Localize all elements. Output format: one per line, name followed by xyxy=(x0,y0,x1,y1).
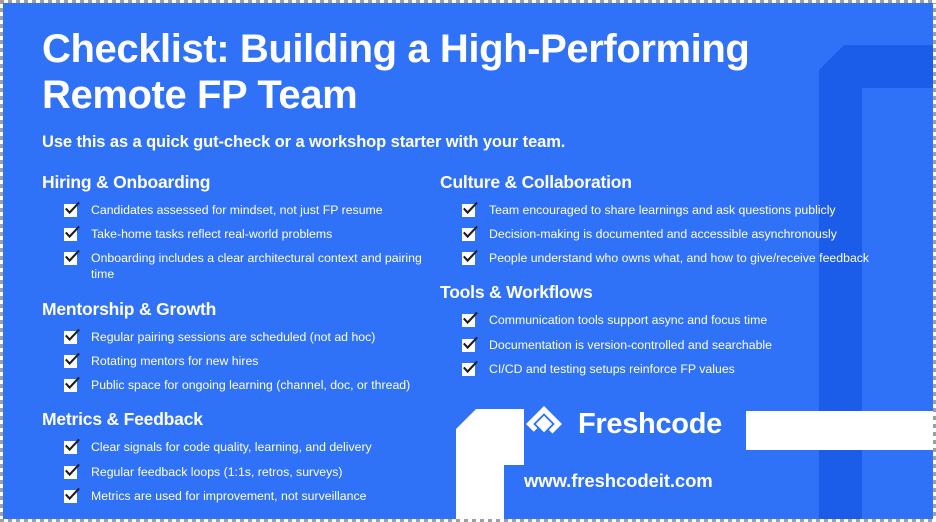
checkbox-checked-icon[interactable] xyxy=(64,228,77,241)
check-item[interactable]: Clear signals for code quality, learning… xyxy=(42,439,440,455)
checklist-section: Hiring & OnboardingCandidates assessed f… xyxy=(42,172,440,283)
check-list: Clear signals for code quality, learning… xyxy=(42,439,440,504)
checkbox-checked-icon[interactable] xyxy=(64,490,77,503)
checkbox-checked-icon[interactable] xyxy=(462,314,475,327)
check-item-label: Onboarding includes a clear architectura… xyxy=(91,250,440,282)
check-item[interactable]: Team encouraged to share learnings and a… xyxy=(440,202,936,218)
check-item[interactable]: Rotating mentors for new hires xyxy=(42,353,440,369)
page-title: Checklist: Building a High-Performing Re… xyxy=(42,26,832,119)
checklist-section: Mentorship & GrowthRegular pairing sessi… xyxy=(42,299,440,394)
brand-url: www.freshcodeit.com xyxy=(524,470,722,492)
check-item-label: Candidates assessed for mindset, not jus… xyxy=(91,202,383,218)
check-item-label: Regular pairing sessions are scheduled (… xyxy=(91,329,375,345)
freshcode-diamond-logo-icon xyxy=(524,404,564,444)
section-title: Culture & Collaboration xyxy=(440,172,936,193)
check-item-label: People understand who owns what, and how… xyxy=(489,250,869,266)
check-list: Team encouraged to share learnings and a… xyxy=(440,202,936,267)
check-list: Candidates assessed for mindset, not jus… xyxy=(42,202,440,283)
check-item-label: Regular feedback loops (1:1s, retros, su… xyxy=(91,464,343,480)
poster-content: Checklist: Building a High-Performing Re… xyxy=(0,0,936,520)
section-title: Mentorship & Growth xyxy=(42,299,440,320)
checklist-poster: Checklist: Building a High-Performing Re… xyxy=(0,0,936,522)
check-item[interactable]: Regular pairing sessions are scheduled (… xyxy=(42,329,440,345)
checkbox-checked-icon[interactable] xyxy=(64,204,77,217)
check-item[interactable]: Documentation is version-controlled and … xyxy=(440,337,936,353)
check-item[interactable]: Metrics are used for improvement, not su… xyxy=(42,488,440,504)
checkbox-checked-icon[interactable] xyxy=(462,252,475,265)
check-item[interactable]: Take-home tasks reflect real-world probl… xyxy=(42,226,440,242)
checklist-columns: Hiring & OnboardingCandidates assessed f… xyxy=(42,172,936,520)
checklist-section: Culture & CollaborationTeam encouraged t… xyxy=(440,172,936,267)
checkbox-checked-icon[interactable] xyxy=(64,252,77,265)
check-item-label: Metrics are used for improvement, not su… xyxy=(91,488,366,504)
check-item-label: CI/CD and testing setups reinforce FP va… xyxy=(489,361,735,377)
check-item[interactable]: Regular feedback loops (1:1s, retros, su… xyxy=(42,464,440,480)
checklist-section: Tools & WorkflowsCommunication tools sup… xyxy=(440,282,936,377)
check-item-label: Take-home tasks reflect real-world probl… xyxy=(91,226,332,242)
check-list: Communication tools support async and fo… xyxy=(440,312,936,377)
checklist-section: Metrics & FeedbackClear signals for code… xyxy=(42,409,440,504)
checkbox-checked-icon[interactable] xyxy=(64,441,77,454)
check-item-label: Communication tools support async and fo… xyxy=(489,312,767,328)
checkbox-checked-icon[interactable] xyxy=(462,339,475,352)
check-item-label: Public space for ongoing learning (chann… xyxy=(91,377,410,393)
checkbox-checked-icon[interactable] xyxy=(64,331,77,344)
check-item[interactable]: Communication tools support async and fo… xyxy=(440,312,936,328)
check-item[interactable]: People understand who owns what, and how… xyxy=(440,250,936,266)
check-item-label: Clear signals for code quality, learning… xyxy=(91,439,372,455)
checkbox-checked-icon[interactable] xyxy=(64,355,77,368)
section-title: Tools & Workflows xyxy=(440,282,936,303)
section-title: Metrics & Feedback xyxy=(42,409,440,430)
brand-block: Freshcode www.freshcodeit.com xyxy=(524,404,722,492)
check-item-label: Rotating mentors for new hires xyxy=(91,353,258,369)
check-item[interactable]: Onboarding includes a clear architectura… xyxy=(42,250,440,282)
brand-row: Freshcode xyxy=(524,404,722,444)
checkbox-checked-icon[interactable] xyxy=(462,363,475,376)
check-item[interactable]: Decision-making is documented and access… xyxy=(440,226,936,242)
checkbox-checked-icon[interactable] xyxy=(64,379,77,392)
brand-name: Freshcode xyxy=(578,408,722,441)
check-item-label: Decision-making is documented and access… xyxy=(489,226,837,242)
checkbox-checked-icon[interactable] xyxy=(64,466,77,479)
section-title: Hiring & Onboarding xyxy=(42,172,440,193)
page-subtitle: Use this as a quick gut-check or a works… xyxy=(42,133,936,152)
check-item-label: Team encouraged to share learnings and a… xyxy=(489,202,836,218)
check-item-label: Documentation is version-controlled and … xyxy=(489,337,772,353)
check-list: Regular pairing sessions are scheduled (… xyxy=(42,329,440,394)
check-item[interactable]: Public space for ongoing learning (chann… xyxy=(42,377,440,393)
check-item[interactable]: Candidates assessed for mindset, not jus… xyxy=(42,202,440,218)
checklist-column-left: Hiring & OnboardingCandidates assessed f… xyxy=(42,172,440,520)
checkbox-checked-icon[interactable] xyxy=(462,204,475,217)
check-item[interactable]: CI/CD and testing setups reinforce FP va… xyxy=(440,361,936,377)
checkbox-checked-icon[interactable] xyxy=(462,228,475,241)
